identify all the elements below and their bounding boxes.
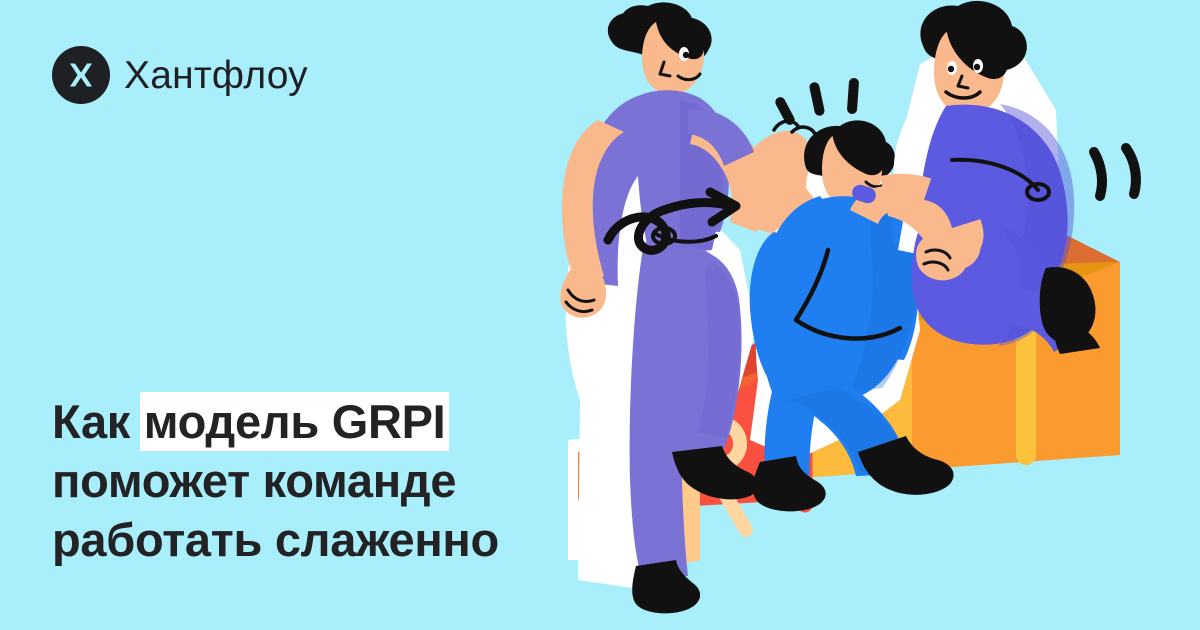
x-mark-icon [52,46,110,104]
brand-logo[interactable]: Хантфлоу [52,46,308,104]
headline-line-1-plain: Как [52,395,143,448]
headline-line-2: поможет команде [52,451,499,510]
headline-highlight: модель GRPI [143,395,447,448]
illustration [560,0,1200,630]
page-title: Как модель GRPI поможет команде работать… [52,392,499,569]
headline-line-1: Как модель GRPI [52,392,499,451]
headline-line-3: работать слаженно [52,510,499,569]
social-share-banner: Хантфлоу Как модель GRPI поможет команде… [0,0,1200,630]
letter-i-stem [1016,325,1036,465]
effort-dashes [774,78,860,127]
brand-name: Хантфлоу [124,56,308,95]
